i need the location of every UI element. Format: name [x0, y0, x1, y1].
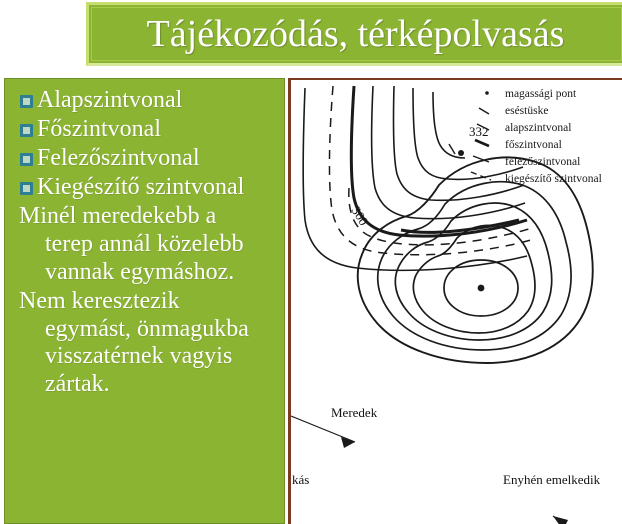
legend-label-slope-tick: eséstüske	[505, 105, 548, 117]
legend-mark-main-contour-icon	[475, 140, 489, 146]
list-item-label: Alapszintvonal	[37, 87, 278, 114]
paragraph-closed-contours-line1: Nem keresztezik	[19, 288, 180, 314]
square-bullet-icon	[20, 95, 33, 108]
paragraph-steepness: Minél meredekebb a terep annál közelebb …	[13, 203, 278, 286]
legend-label-base-contour: alapszintvonal	[505, 122, 571, 134]
contour-line-outer	[303, 88, 527, 270]
list-item: Főszintvonal	[13, 116, 278, 143]
square-bullet-icon	[20, 124, 33, 137]
steep-label: Meredek	[331, 405, 378, 420]
list-item-label: Főszintvonal	[37, 116, 278, 143]
list-item-label-line1: Kiegészítő	[37, 174, 140, 200]
square-bullet-icon	[20, 182, 33, 195]
legend-mark-slope-tick-icon	[479, 108, 489, 114]
list-item: Kiegészítő szintvonal	[13, 174, 278, 201]
legend-label-main-contour: főszintvonal	[505, 139, 562, 151]
contour-line-summit-loop	[433, 92, 465, 158]
square-bullet-icon	[20, 153, 33, 166]
bottom-hill-figure: Meredek Enyhén emelkedik kás	[291, 157, 611, 524]
slope-tick-icon	[449, 144, 455, 154]
page-title: Tájékozódás, térképolvasás	[147, 15, 565, 53]
list-item-label-line2: szintvonal	[146, 174, 245, 200]
paragraph-closed-contours-rest: egymást, önmagukba visszatérnek vagyis z…	[19, 316, 278, 399]
contour-line-supplementary-outer	[329, 86, 531, 255]
figure-legend: magassági pont eséstüske alapszintvonal …	[471, 88, 602, 185]
steep-side-annotation: Meredek	[291, 405, 378, 448]
legend-label-supplementary-contour: kiegészítő szintvonal	[505, 173, 602, 185]
content-panel-left: Alapszintvonal Főszintvonal Felezőszintv…	[4, 78, 285, 524]
gentle-side-annotation: Enyhén emelkedik	[503, 472, 611, 524]
paragraph-steepness-line1: Minél meredekebb a	[19, 203, 216, 229]
paragraph-steepness-rest: terep annál közelebb vannak egymáshoz.	[19, 231, 278, 286]
legend-mark-spot-height-icon	[485, 91, 489, 95]
paragraph-closed-contours: Nem keresztezik egymást, önmagukba vissz…	[13, 288, 278, 398]
list-item: Alapszintvonal	[13, 87, 278, 114]
legend-label-spot-height: magassági pont	[505, 88, 577, 100]
spot-height-label: 332	[469, 124, 489, 139]
list-item: Felezőszintvonal	[13, 145, 278, 172]
spot-height-dot-icon	[458, 150, 464, 156]
list-item-label: Kiegészítő szintvonal	[37, 174, 278, 201]
figure-panel-right: 332 300 magassági pont eséstüske alapszi…	[288, 78, 622, 524]
contour-diagram-svg: 332 300 magassági pont eséstüske alapszi…	[291, 80, 622, 524]
top-contour-figure: 332 300	[303, 86, 531, 270]
list-item-label: Felezőszintvonal	[37, 145, 278, 172]
gentle-label: Enyhén emelkedik	[503, 472, 601, 487]
clipped-label: kás	[292, 472, 309, 487]
hill-summit-dot-icon	[478, 285, 485, 292]
gentle-arrow-head-icon	[553, 516, 568, 524]
slide-title-banner: Tájékozódás, térképolvasás	[86, 2, 622, 66]
